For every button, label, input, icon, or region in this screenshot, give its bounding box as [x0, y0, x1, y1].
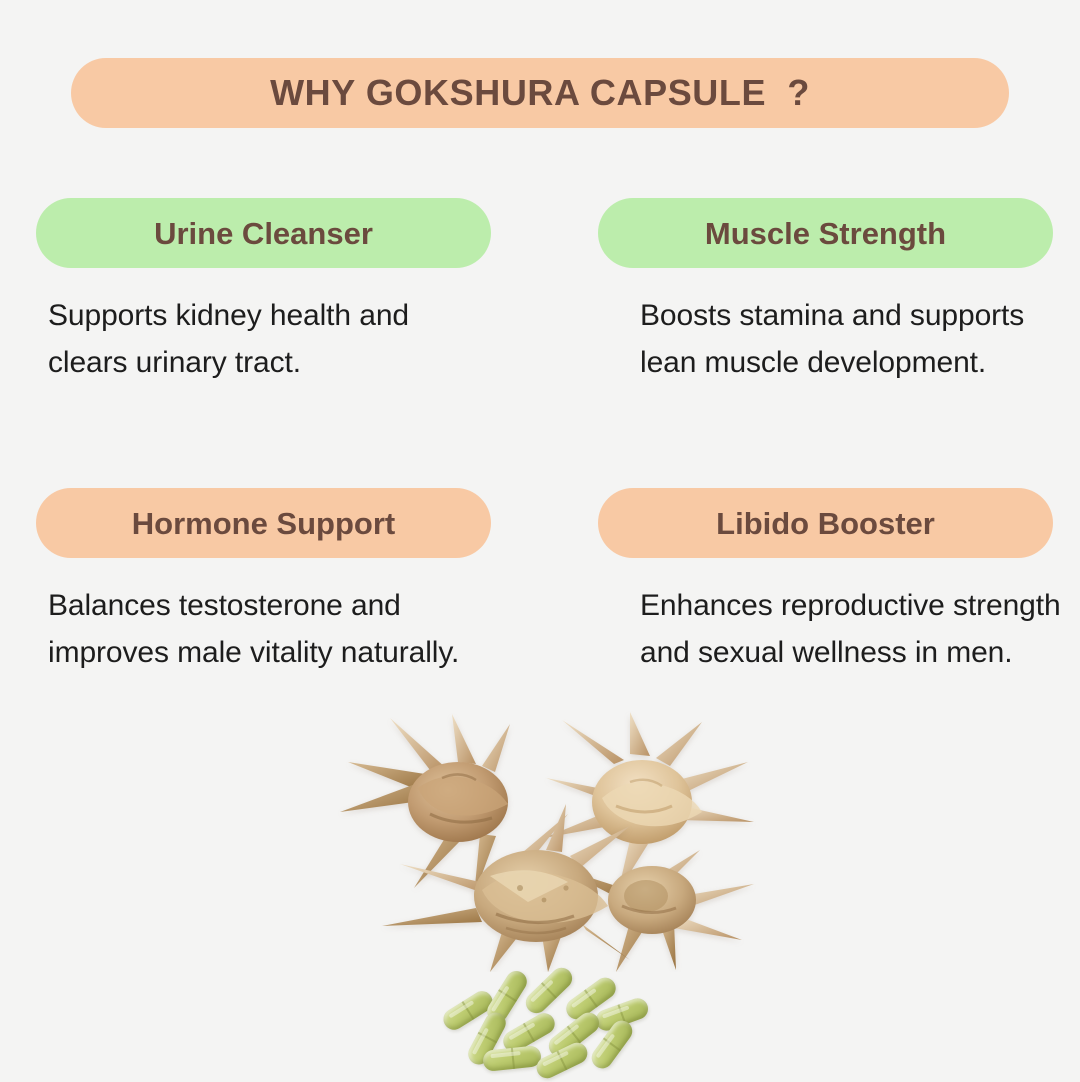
benefit-card-muscle-strength: Muscle Strength Boosts stamina and suppo…	[598, 198, 1053, 387]
gokshura-fruit-back-left	[340, 714, 510, 896]
benefit-description-muscle-strength: Boosts stamina and supports lean muscle …	[598, 292, 1070, 387]
benefit-pill-hormone-support: Hormone Support	[36, 488, 491, 558]
capsule-item	[482, 1045, 542, 1072]
infographic-poster: WHY GOKSHURA CAPSULE ? Urine Cleanser Su…	[0, 0, 1080, 1080]
benefit-label-urine-cleanser: Urine Cleanser	[154, 218, 373, 249]
benefit-label-hormone-support: Hormone Support	[132, 508, 396, 539]
green-capsules-pile	[435, 978, 645, 1078]
product-photo	[330, 710, 760, 1080]
benefit-description-libido-booster: Enhances reproductive strength and sexua…	[598, 582, 1070, 677]
product-photo-stage	[330, 710, 760, 1080]
benefit-card-urine-cleanser: Urine Cleanser Supports kidney health an…	[36, 198, 491, 387]
gokshura-fruit-cluster-icon	[330, 710, 760, 970]
benefit-card-hormone-support: Hormone Support Balances testosterone an…	[36, 488, 491, 677]
benefit-label-libido-booster: Libido Booster	[716, 508, 935, 539]
gokshura-fruit-front-center	[382, 804, 630, 972]
benefit-description-hormone-support: Balances testosterone and improves male …	[36, 582, 478, 677]
benefit-description-urine-cleanser: Supports kidney health and clears urinar…	[36, 292, 478, 387]
benefit-pill-urine-cleanser: Urine Cleanser	[36, 198, 491, 268]
benefit-label-muscle-strength: Muscle Strength	[705, 218, 946, 249]
benefit-pill-libido-booster: Libido Booster	[598, 488, 1053, 558]
benefit-pill-muscle-strength: Muscle Strength	[598, 198, 1053, 268]
benefit-card-libido-booster: Libido Booster Enhances reproductive str…	[598, 488, 1053, 677]
